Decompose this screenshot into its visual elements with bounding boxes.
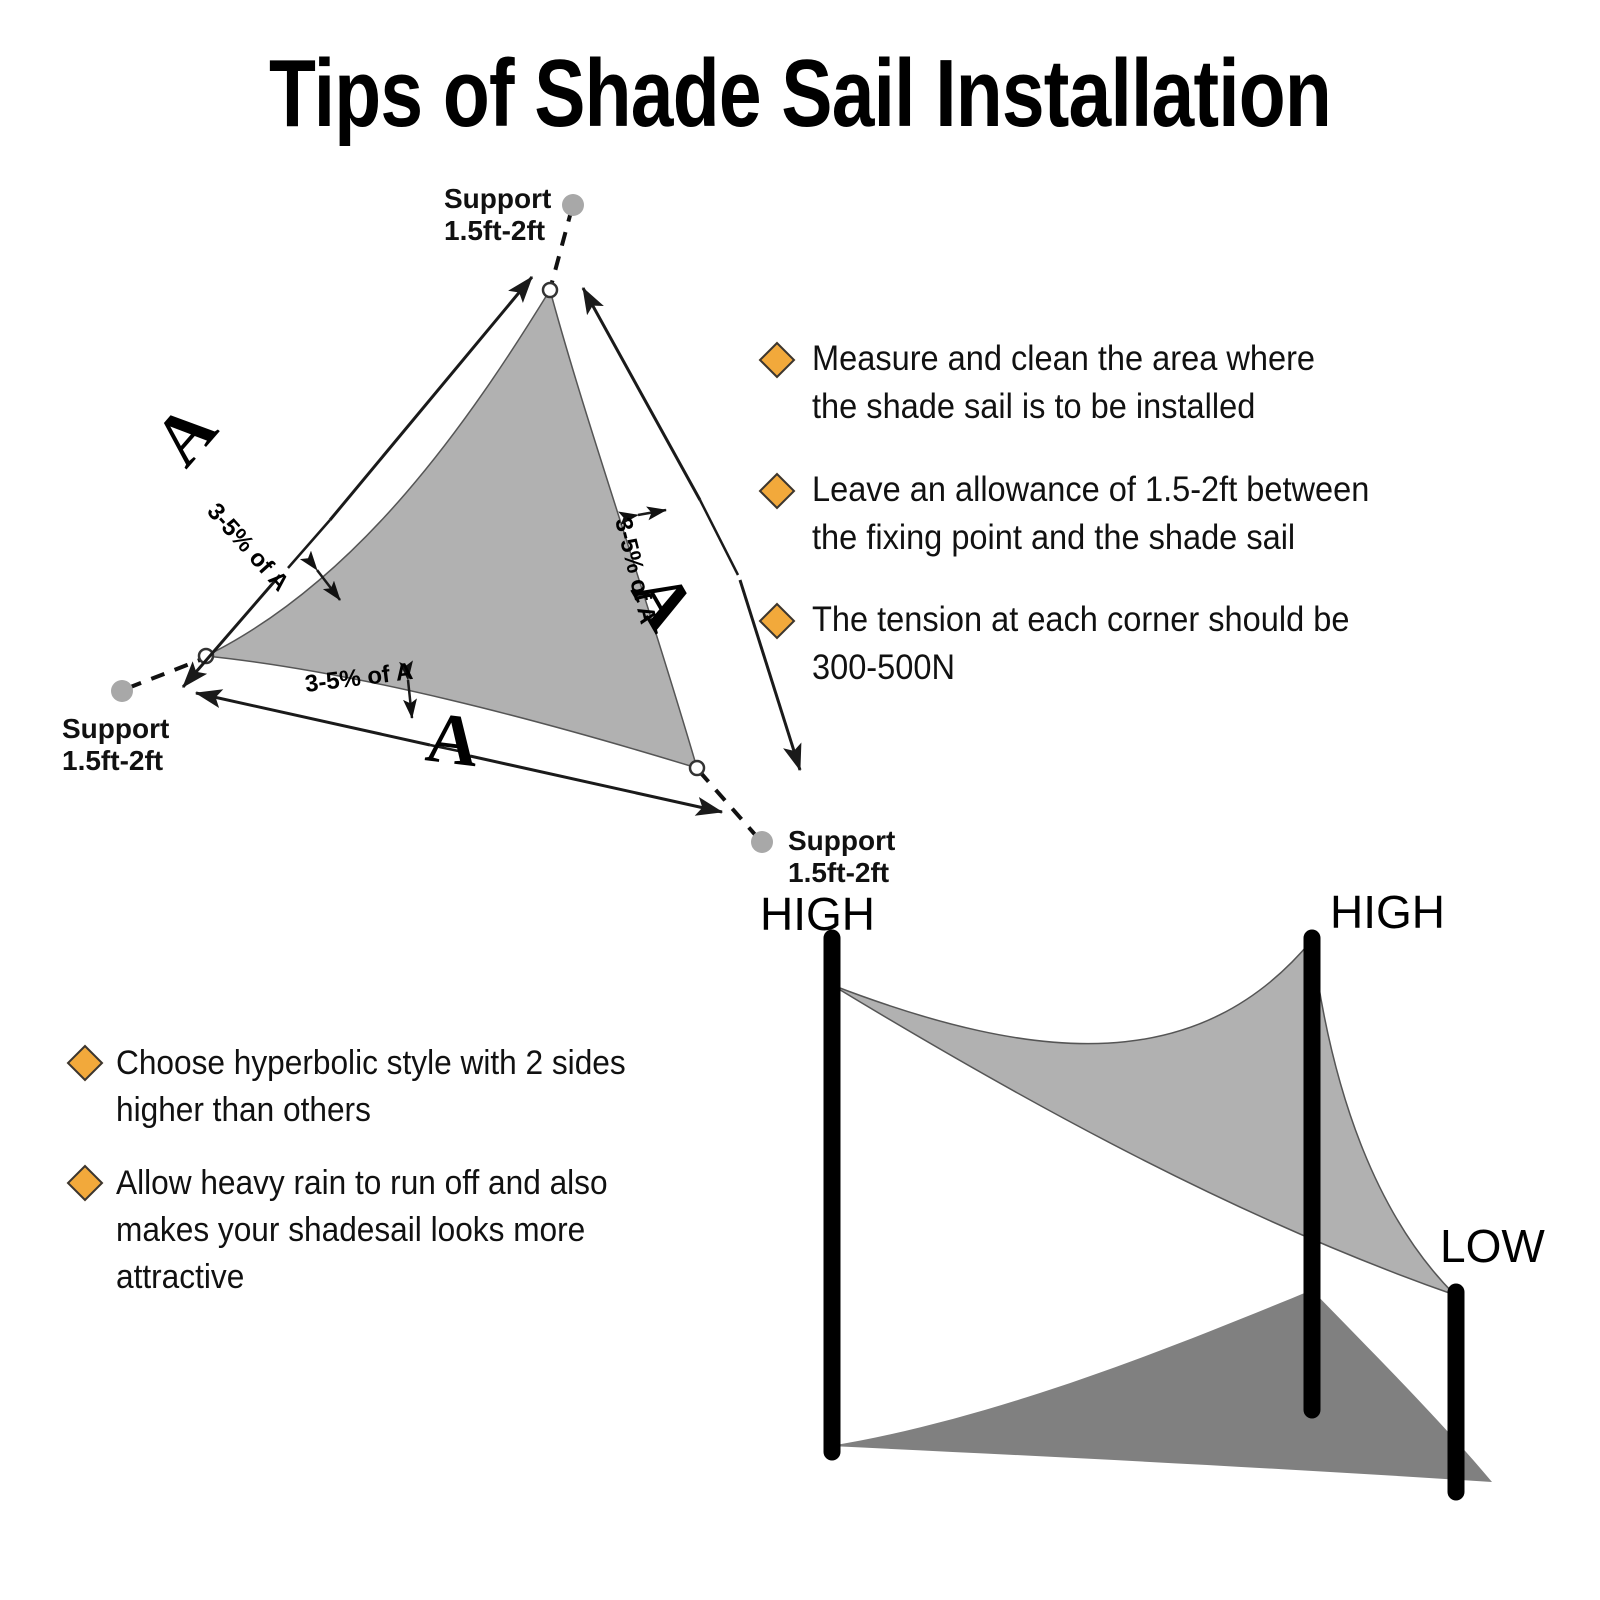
svg-text:Support: Support bbox=[788, 825, 895, 856]
support-label-top: Support 1.5ft-2ft bbox=[444, 183, 551, 246]
svg-text:1.5ft-2ft: 1.5ft-2ft bbox=[62, 745, 163, 776]
list-item-text: Leave an allowance of 1.5-2ft between th… bbox=[812, 466, 1369, 563]
tips-list-right: Measure and clean the area where the sha… bbox=[764, 335, 1554, 727]
svg-text:Support: Support bbox=[444, 183, 551, 214]
support-label-bottom: Support 1.5ft-2ft bbox=[788, 825, 895, 888]
support-dot-left bbox=[111, 680, 133, 702]
support-lead-bottom bbox=[700, 772, 758, 838]
grommet-bottom bbox=[690, 761, 704, 775]
post-right-label: LOW bbox=[1440, 1220, 1545, 1272]
list-item: Leave an allowance of 1.5-2ft between th… bbox=[764, 466, 1554, 563]
svg-text:1.5ft-2ft: 1.5ft-2ft bbox=[788, 857, 889, 888]
list-item-text: Choose hyperbolic style with 2 sides hig… bbox=[116, 1040, 626, 1134]
hyperbolic-sail-diagram: HIGH HIGH LOW bbox=[740, 890, 1600, 1550]
post-middle-label: HIGH bbox=[1330, 890, 1445, 938]
infographic-page: Tips of Shade Sail Installation bbox=[0, 0, 1600, 1600]
list-item: The tension at each corner should be 300… bbox=[764, 596, 1554, 693]
support-dot-top bbox=[562, 194, 584, 216]
list-item-text: Allow heavy rain to run off and also mak… bbox=[116, 1160, 608, 1301]
hyperbolic-sail-shape bbox=[832, 940, 1455, 1295]
grommet-top bbox=[543, 283, 557, 297]
support-lead-top bbox=[551, 208, 572, 286]
svg-text:1.5ft-2ft: 1.5ft-2ft bbox=[444, 215, 545, 246]
page-title: Tips of Shade Sail Installation bbox=[160, 46, 1440, 142]
list-item-text: Measure and clean the area where the sha… bbox=[812, 335, 1315, 432]
diamond-bullet-icon bbox=[67, 1045, 104, 1082]
diamond-bullet-icon bbox=[759, 342, 796, 379]
sail-shadow bbox=[830, 1290, 1492, 1482]
list-item: Allow heavy rain to run off and also mak… bbox=[72, 1160, 792, 1301]
support-label-left: Support 1.5ft-2ft bbox=[62, 713, 169, 776]
support-dot-bottom bbox=[751, 831, 773, 853]
diamond-bullet-icon bbox=[67, 1164, 104, 1201]
list-item-text: The tension at each corner should be 300… bbox=[812, 596, 1349, 693]
list-item: Measure and clean the area where the sha… bbox=[764, 335, 1554, 432]
side-left-curve-label: 3-5% of A bbox=[202, 498, 295, 597]
post-left-label: HIGH bbox=[760, 890, 875, 940]
list-item: Choose hyperbolic style with 2 sides hig… bbox=[72, 1040, 792, 1134]
svg-text:Support: Support bbox=[62, 713, 169, 744]
side-left-span-label: A bbox=[138, 389, 232, 481]
diamond-bullet-icon bbox=[759, 603, 796, 640]
diamond-bullet-icon bbox=[759, 472, 796, 509]
side-bottom-span-label: A bbox=[422, 696, 483, 782]
tips-list-left: Choose hyperbolic style with 2 sides hig… bbox=[72, 1040, 792, 1327]
